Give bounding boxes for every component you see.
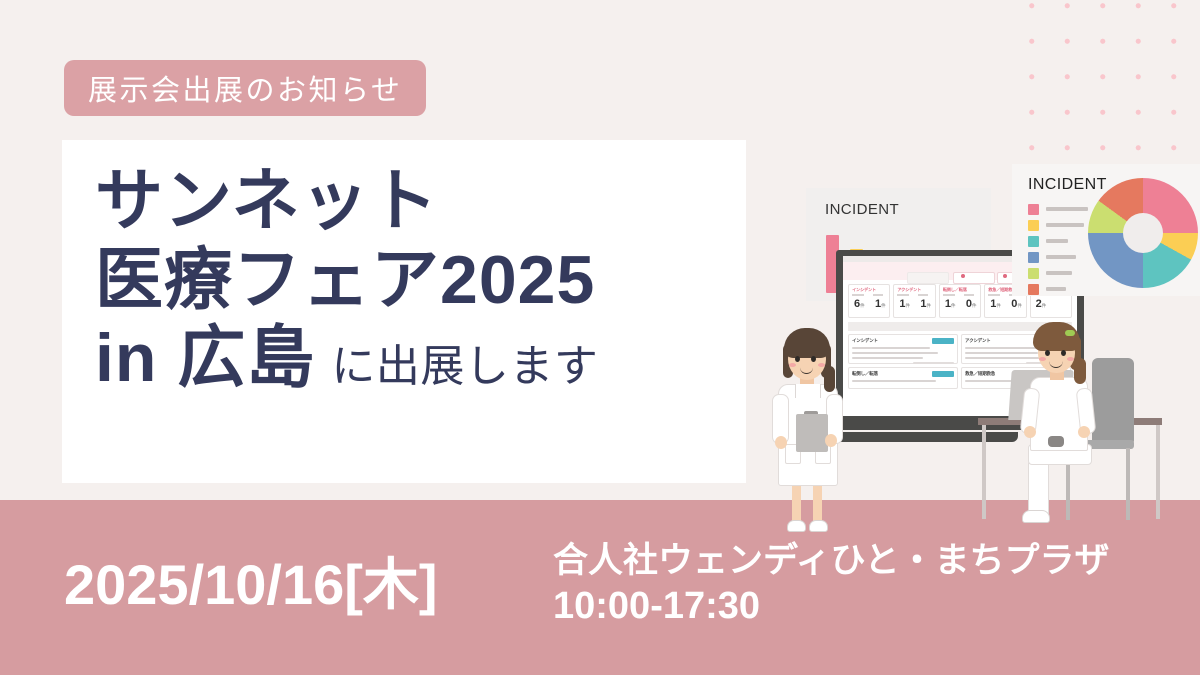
legend-swatch <box>1028 236 1039 247</box>
clipboard <box>796 414 828 452</box>
shoe <box>787 520 806 532</box>
title-line-3-main: in 広島 <box>95 323 315 394</box>
event-time: 10:00-17:30 <box>553 584 1110 628</box>
kpi-sublabel-b <box>918 294 928 296</box>
desk-leg <box>982 425 986 519</box>
donut-ring <box>1088 178 1198 288</box>
announcement-badge: 展示会出展のお知らせ <box>64 60 426 116</box>
title-card: サンネット 医療フェア2025 in 広島 に出展します <box>62 140 746 483</box>
report-panel-badge[interactable] <box>932 371 954 377</box>
hair-tie <box>1065 330 1075 336</box>
dashboard-illustration: INCIDENT <box>740 140 1200 540</box>
legend-swatch <box>1028 220 1039 231</box>
legend-item <box>1028 250 1088 264</box>
kpi-sublabel-a <box>988 294 1000 296</box>
kpi-card: 転倒し／転落 1件 0件 <box>939 284 981 318</box>
toolbar-button-1[interactable] <box>907 272 949 284</box>
kpi-unit: 件 <box>1017 303 1022 308</box>
kpi-value-b: 0件 <box>966 299 977 310</box>
report-line <box>852 357 923 359</box>
seated-nurse <box>1008 318 1118 523</box>
kpi-unit: 件 <box>951 303 956 308</box>
legend-label <box>1046 207 1088 211</box>
cheek <box>818 363 825 367</box>
report-line <box>852 352 938 354</box>
legend-item <box>1028 202 1088 216</box>
kpi-value-a: 1件 <box>945 299 956 310</box>
cheek <box>1067 357 1074 361</box>
hand <box>775 436 787 449</box>
kpi-card: インシデント 6件 1件 <box>848 284 890 318</box>
kpi-sublabel-a <box>852 294 864 296</box>
hand <box>1024 426 1036 438</box>
title-line-3: in 広島 に出展します <box>95 323 598 394</box>
eye <box>1061 350 1066 356</box>
report-panel-badge[interactable] <box>932 338 954 344</box>
legend-item <box>1028 282 1088 296</box>
kpi-sublabel-a <box>897 294 909 296</box>
kpi-unit: 件 <box>1042 303 1047 308</box>
report-line <box>852 380 936 382</box>
title-line-3-suffix: に出展します <box>331 344 598 390</box>
report-panel-footer <box>913 362 954 364</box>
legend-label <box>1046 287 1066 291</box>
shoe <box>809 520 828 532</box>
kpi-unit: 件 <box>996 303 1001 308</box>
legend-swatch <box>1028 284 1039 295</box>
legend-swatch <box>1028 204 1039 215</box>
hand <box>1078 426 1090 438</box>
toolbar-button-2[interactable] <box>953 272 995 284</box>
kpi-value-a: 1件 <box>990 299 1001 310</box>
cheek <box>1039 357 1046 361</box>
legend-label <box>1046 255 1076 259</box>
legend-item <box>1028 218 1088 232</box>
ponytail <box>1074 358 1086 384</box>
report-panel: インシデント <box>848 334 958 364</box>
eye <box>795 356 800 362</box>
kpi-sublabel-b <box>964 294 974 296</box>
kpi-label: インシデント <box>852 287 876 293</box>
shoe <box>1022 510 1050 523</box>
hair <box>784 328 830 358</box>
event-announcement-banner: 展示会出展のお知らせ サンネット 医療フェア2025 in 広島 に出展します … <box>0 0 1200 675</box>
legend-item <box>1028 266 1088 280</box>
leg <box>813 482 822 522</box>
chair-leg <box>1126 448 1130 520</box>
collar <box>795 384 821 398</box>
kpi-card: アクシデント 1件 1件 <box>893 284 935 318</box>
desk-leg <box>1156 425 1160 519</box>
hand <box>825 434 837 447</box>
hair <box>1033 322 1080 351</box>
kpi-sublabel-a <box>943 294 955 296</box>
kpi-unit: 件 <box>972 303 977 308</box>
report-panel: 転倒し／転落 <box>848 367 958 389</box>
eye <box>1045 350 1050 356</box>
leg <box>792 482 801 522</box>
donut-chart <box>1088 178 1198 288</box>
kpi-label: 転倒し／転落 <box>943 287 967 293</box>
toolbar-dot-icon <box>961 274 965 278</box>
kpi-value-a: 2件 <box>1036 299 1047 310</box>
donut-legend <box>1028 202 1088 298</box>
kpi-value-a: 1件 <box>899 299 910 310</box>
mouse <box>1048 436 1064 447</box>
event-venue: 合人社ウェンディひと・まちプラザ <box>553 541 1110 582</box>
legend-item <box>1028 234 1088 248</box>
cheek <box>789 363 796 367</box>
incident-bar-card-title: INCIDENT <box>825 201 899 218</box>
event-date: 2025/10/16[木] <box>64 540 438 621</box>
title-line-2: 医療フェア2025 <box>95 245 598 316</box>
kpi-value-b: 1件 <box>875 299 886 310</box>
ponytail <box>824 366 835 392</box>
toolbar-refresh-icon <box>1003 274 1007 278</box>
title-text-group: サンネット 医療フェア2025 in 広島 に出展します <box>95 166 598 394</box>
kpi-unit: 件 <box>906 303 911 308</box>
standing-nurse <box>762 322 852 532</box>
legend-label <box>1046 239 1068 243</box>
kpi-unit: 件 <box>860 303 865 308</box>
kpi-value-a: 6件 <box>854 299 865 310</box>
legend-label <box>1046 271 1072 275</box>
legend-swatch <box>1028 268 1039 279</box>
event-venue-group: 合人社ウェンディひと・まちプラザ 10:00-17:30 <box>553 541 1110 628</box>
eye <box>811 356 816 362</box>
kpi-label: アクシデント <box>897 287 921 293</box>
incident-donut-card: INCIDENT <box>1012 164 1200 296</box>
kpi-value-b: 1件 <box>920 299 931 310</box>
kpi-value-b: 0件 <box>1011 299 1022 310</box>
kpi-unit: 件 <box>881 303 886 308</box>
report-line <box>852 347 930 349</box>
kpi-unit: 件 <box>927 303 932 308</box>
title-line-1: サンネット <box>95 166 598 237</box>
legend-label <box>1046 223 1084 227</box>
legend-swatch <box>1028 252 1039 263</box>
kpi-sublabel-b <box>873 294 883 296</box>
